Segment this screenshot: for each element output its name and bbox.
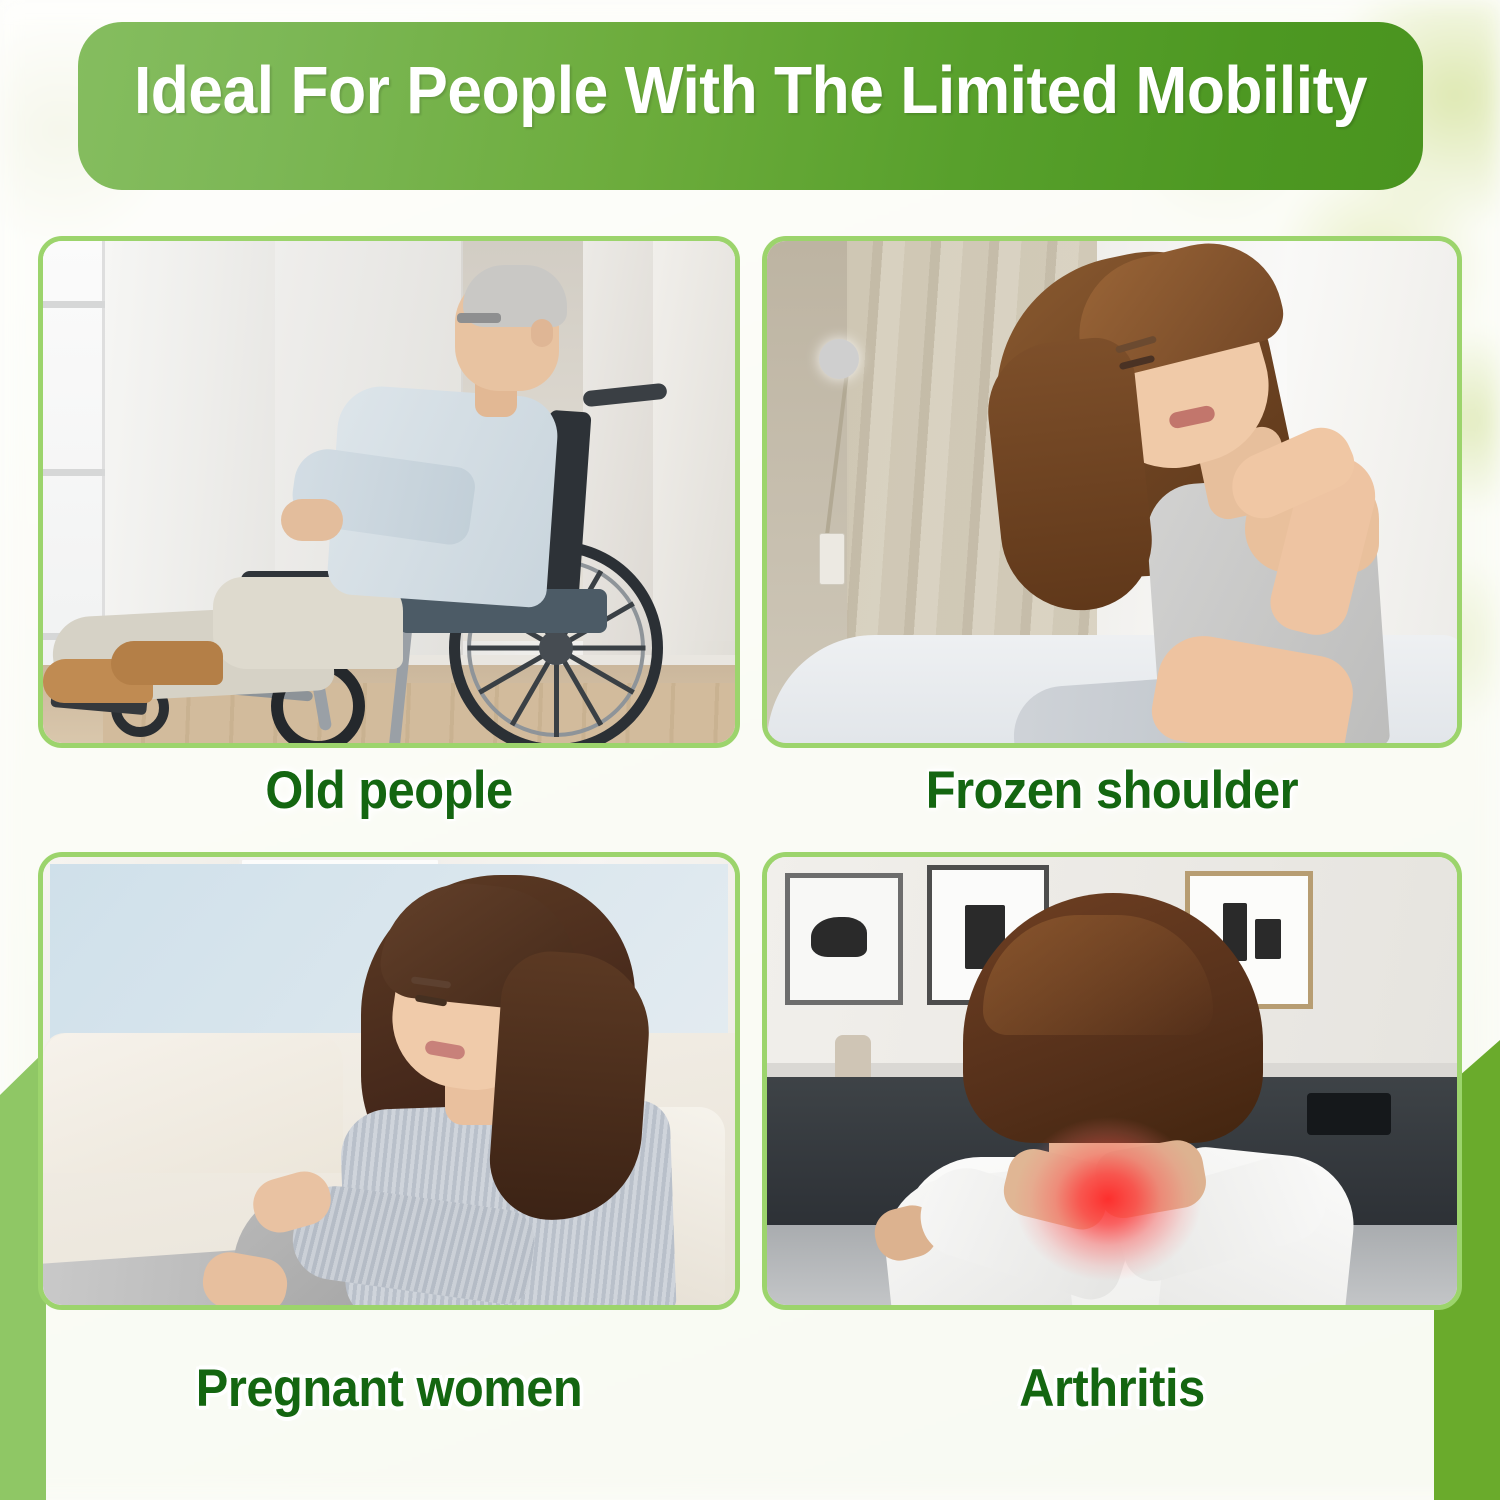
card-label-pregnant-women: Pregnant women bbox=[66, 1358, 712, 1419]
banner-title: Ideal For People With The Limited Mobili… bbox=[125, 56, 1376, 126]
card-label-old-people: Old people bbox=[66, 760, 712, 821]
header-banner: Ideal For People With The Limited Mobili… bbox=[78, 22, 1423, 190]
pregnant-woman-on-sofa-photo bbox=[43, 857, 735, 1305]
card-frozen-shoulder[interactable] bbox=[762, 236, 1462, 748]
elderly-man-in-wheelchair-photo bbox=[43, 241, 735, 743]
card-arthritis[interactable] bbox=[762, 852, 1462, 1310]
card-old-people[interactable] bbox=[38, 236, 740, 748]
card-label-arthritis: Arthritis bbox=[790, 1358, 1434, 1419]
woman-holding-neck-photo bbox=[767, 241, 1457, 743]
card-pregnant-women[interactable] bbox=[38, 852, 740, 1310]
card-label-frozen-shoulder: Frozen shoulder bbox=[790, 760, 1434, 821]
woman-back-neck-pain-photo bbox=[767, 857, 1457, 1305]
